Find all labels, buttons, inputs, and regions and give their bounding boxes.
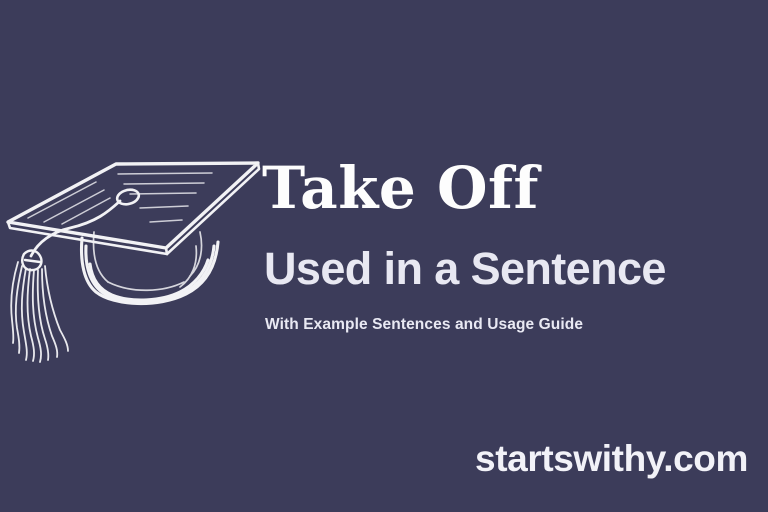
promo-card: Take Off Used in a Sentence With Example… <box>0 0 768 512</box>
cap-base-shading <box>94 232 202 290</box>
cap-cord <box>31 201 120 256</box>
cap-button <box>116 188 141 207</box>
graduation-cap-illustration <box>0 142 280 372</box>
tassel-knot <box>22 251 41 271</box>
headline-block: Take Off Used in a Sentence With Example… <box>262 158 762 335</box>
headline-primary: Take Off <box>262 158 762 218</box>
site-brand: startswithy.com <box>0 437 748 481</box>
tassel-strands <box>11 262 68 362</box>
mortarboard <box>8 163 258 248</box>
mortarboard-hatching <box>28 173 212 224</box>
cap-base <box>82 238 218 304</box>
headline-secondary: Used in a Sentence <box>264 244 762 294</box>
mortarboard-edge <box>8 163 259 254</box>
subtitle: With Example Sentences and Usage Guide <box>265 315 762 335</box>
